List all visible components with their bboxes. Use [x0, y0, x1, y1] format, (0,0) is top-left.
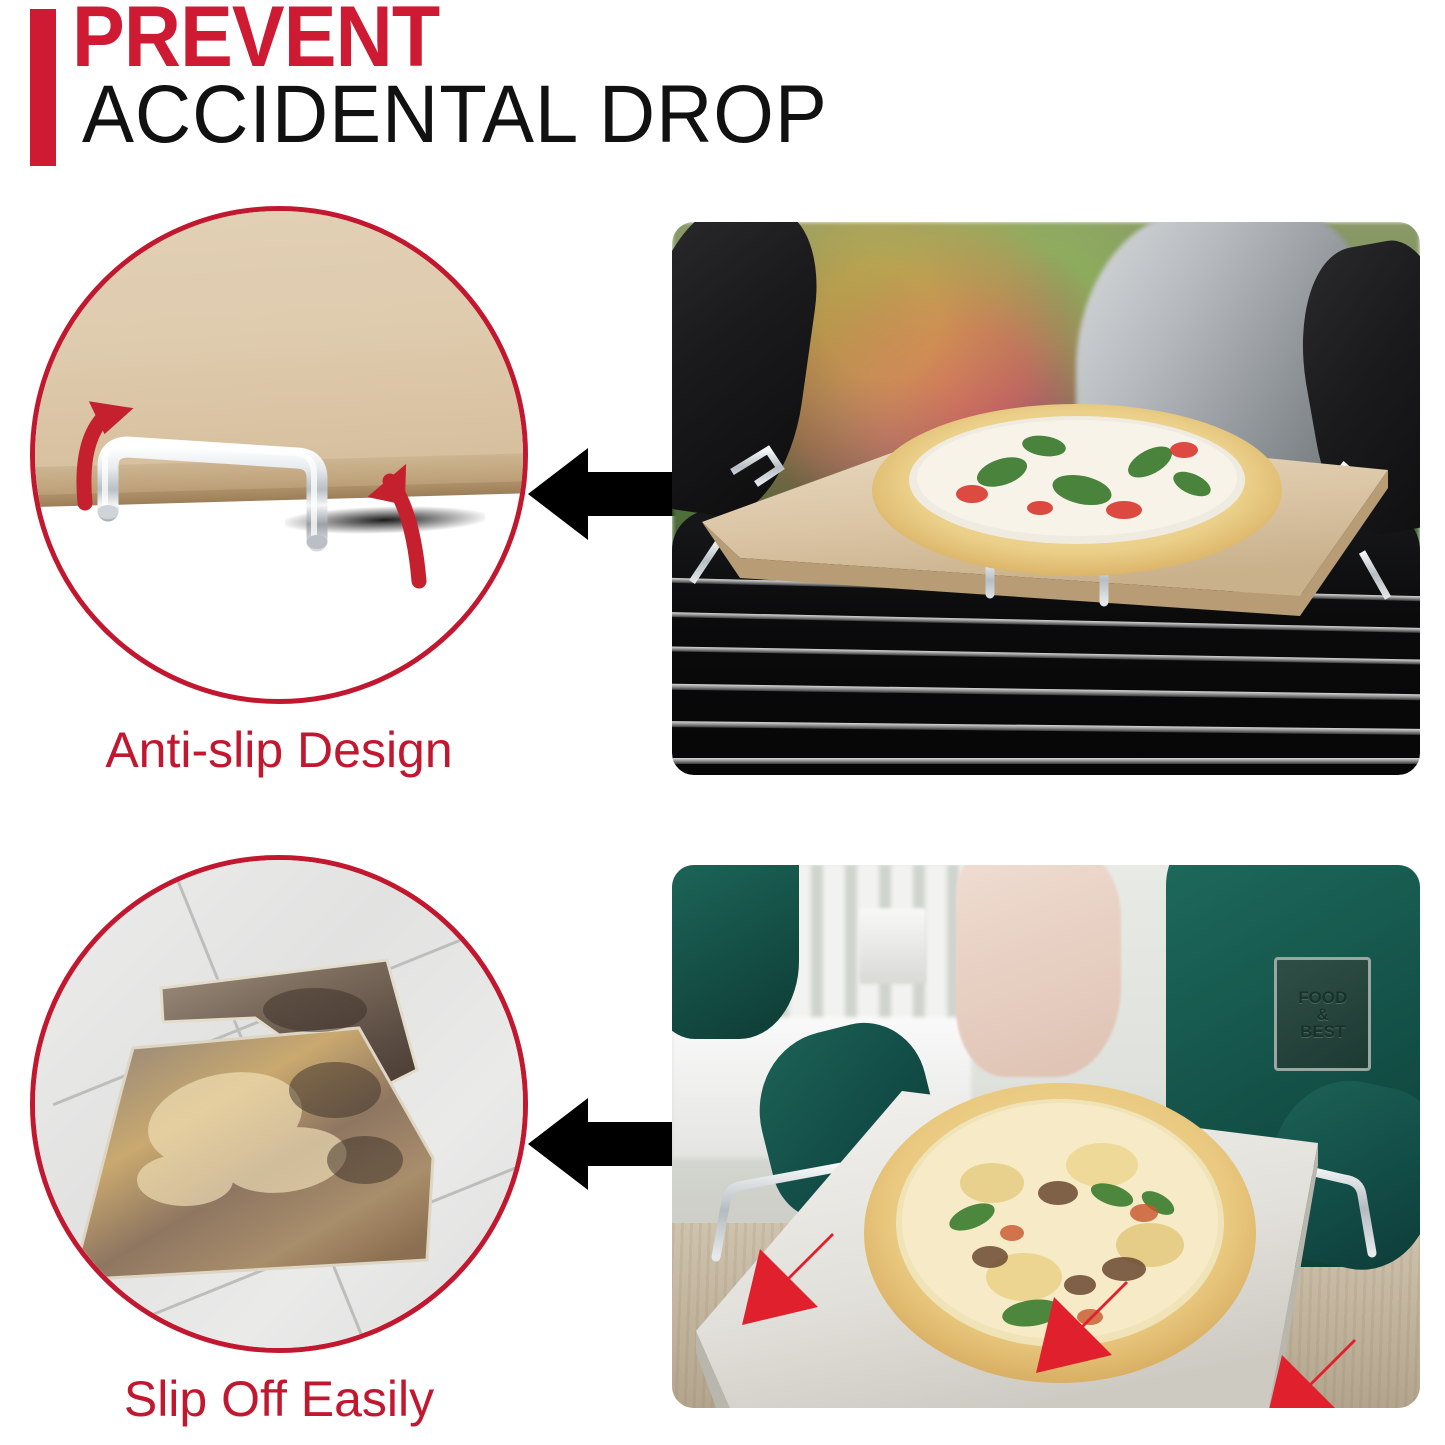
- slip-off-circle: [30, 855, 528, 1353]
- page-header: PREVENT ACCIDENTAL DROP: [0, 0, 1445, 185]
- left-arrow-icon-top: [524, 446, 684, 542]
- grill-photo: [672, 222, 1420, 775]
- slip-off-detail-panel: Slip Off Easily: [30, 855, 528, 1445]
- slip-off-label: Slip Off Easily: [30, 1370, 528, 1428]
- slide-direction-arrows-icon: [672, 865, 1420, 1408]
- anti-slip-label: Anti-slip Design: [30, 721, 528, 779]
- broken-stone-on-tile-icon: [35, 860, 523, 1348]
- page-subtitle: ACCIDENTAL DROP: [82, 74, 828, 156]
- header-accent-bar: [30, 9, 56, 166]
- page-title: PREVENT: [72, 0, 439, 80]
- left-arrow-icon-bottom: [524, 1096, 684, 1192]
- broken-stone-pieces: [35, 860, 528, 1353]
- slide-photo: FOOD & BEST: [672, 865, 1420, 1408]
- lift-arrows-icon: [35, 211, 528, 704]
- margherita-pizza: [672, 222, 1420, 775]
- anti-slip-circle: [30, 206, 528, 704]
- anti-slip-detail-panel: Anti-slip Design: [30, 206, 528, 796]
- stone-handle-closeup-icon: [35, 211, 523, 699]
